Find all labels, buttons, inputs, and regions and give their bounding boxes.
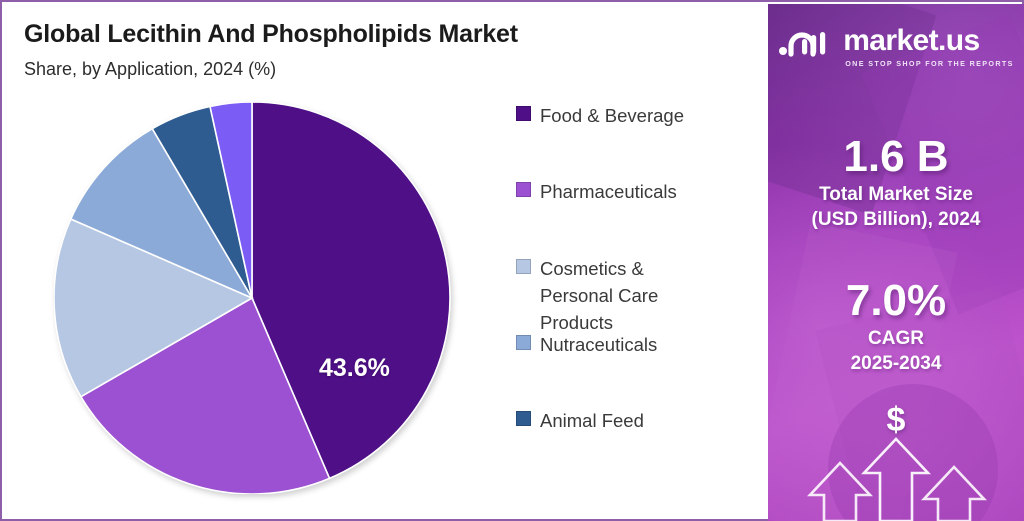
- stat-cagr: 7.0% CAGR 2025-2034: [768, 276, 1024, 376]
- legend-item-label: Nutraceuticals: [540, 331, 657, 358]
- legend-swatch-icon: [516, 182, 531, 197]
- legend-item[interactable]: Pharmaceuticals: [516, 178, 677, 205]
- dollar-icon: $: [768, 401, 1024, 440]
- growth-arrows-icon: $: [768, 391, 1024, 521]
- legend-item[interactable]: Cosmetics & Personal Care Products: [516, 255, 658, 336]
- pie-slice-label-food-beverage: 43.6%: [319, 354, 390, 383]
- brand-name: market.us: [843, 26, 1014, 56]
- brand-logo[interactable]: market.us ONE STOP SHOP FOR THE REPORTS: [768, 26, 1024, 68]
- market-us-logo-icon: [778, 28, 834, 67]
- stat-caption-line2: (USD Billion), 2024: [768, 207, 1024, 232]
- pie-chart: 43.6%: [54, 102, 454, 494]
- legend-item[interactable]: Animal Feed: [516, 407, 644, 434]
- brand-tagline: ONE STOP SHOP FOR THE REPORTS: [845, 59, 1014, 68]
- pie-chart-svg: [54, 102, 454, 494]
- legend-swatch-icon: [516, 106, 531, 121]
- legend-item-label: Food & Beverage: [540, 102, 684, 129]
- stat-value: 7.0%: [768, 276, 1024, 326]
- legend-item-label: Cosmetics & Personal Care Products: [540, 255, 658, 336]
- legend-swatch-icon: [516, 259, 531, 274]
- stat-caption-line1: Total Market Size: [768, 182, 1024, 207]
- stat-value: 1.6 B: [768, 132, 1024, 182]
- infographic-root: Global Lecithin And Phospholipids Market…: [0, 0, 1024, 521]
- stat-total-market-size: 1.6 B Total Market Size (USD Billion), 2…: [768, 132, 1024, 232]
- brand-panel: market.us ONE STOP SHOP FOR THE REPORTS …: [768, 4, 1024, 521]
- chart-subtitle: Share, by Application, 2024 (%): [24, 59, 276, 80]
- legend-item[interactable]: Food & Beverage: [516, 102, 684, 129]
- legend-item-label: Animal Feed: [540, 407, 644, 434]
- page-title: Global Lecithin And Phospholipids Market: [24, 20, 518, 49]
- legend-swatch-icon: [516, 335, 531, 350]
- legend-item-label: Pharmaceuticals: [540, 178, 677, 205]
- stat-caption-line2: 2025-2034: [768, 351, 1024, 376]
- legend-item[interactable]: Nutraceuticals: [516, 331, 657, 358]
- stat-caption-line1: CAGR: [768, 326, 1024, 351]
- legend-swatch-icon: [516, 411, 531, 426]
- chart-panel: Global Lecithin And Phospholipids Market…: [2, 2, 762, 519]
